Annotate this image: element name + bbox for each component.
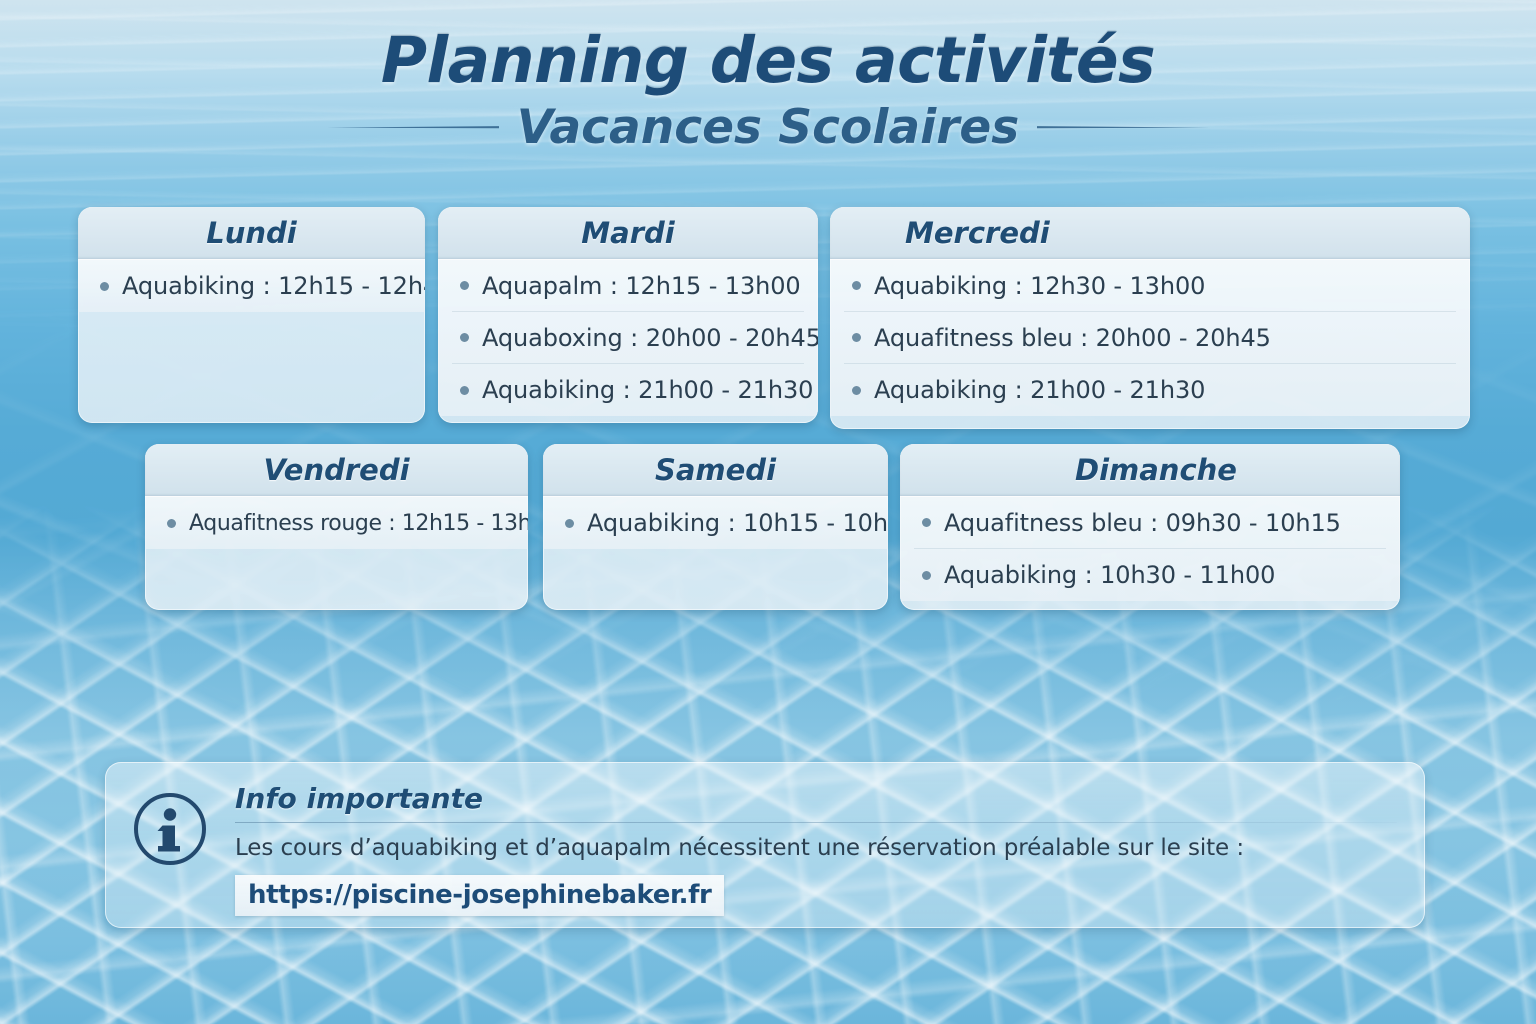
day-name-samedi: Samedi (655, 453, 776, 487)
activity-label: Aquabiking : 21h00 - 21h30 (874, 376, 1205, 404)
activity-label: Aquabiking : 10h15 - 10h45 (587, 509, 888, 537)
info-circle-icon (131, 790, 209, 873)
activity-label: Aquabiking : 12h15 - 12h45 (122, 272, 425, 300)
day-card-body: Aquabiking : 12h30 - 13h00 Aquafitness b… (830, 260, 1470, 416)
day-card-dimanche: Dimanche Aquafitness bleu : 09h30 - 10h1… (900, 444, 1400, 610)
activity-item: Aquafitness bleu : 09h30 - 10h15 (914, 497, 1386, 549)
day-card-header: Mercredi (830, 207, 1470, 260)
activity-item: Aquabiking : 12h15 - 12h45 (92, 260, 411, 312)
activity-label: Aquafitness bleu : 09h30 - 10h15 (944, 509, 1341, 537)
bullet-icon (922, 518, 931, 527)
bullet-icon (852, 333, 861, 342)
bullet-icon (922, 571, 931, 580)
activity-item: Aquabiking : 21h00 - 21h30 (452, 364, 804, 416)
bullet-icon (852, 386, 861, 395)
right-rule-decoration (1037, 125, 1209, 130)
activity-label: Aquaboxing : 20h00 - 20h45 (482, 324, 818, 352)
activity-item: Aquabiking : 10h15 - 10h45 (557, 497, 874, 549)
info-box: Info importante Les cours d’aquabiking e… (105, 762, 1425, 928)
activity-label: Aquabiking : 12h30 - 13h00 (874, 272, 1205, 300)
activity-label: Aquapalm : 12h15 - 13h00 (482, 272, 801, 300)
activity-item: Aquapalm : 12h15 - 13h00 (452, 260, 804, 312)
day-card-header: Mardi (438, 207, 818, 260)
bullet-icon (460, 386, 469, 395)
page-title: Planning des activités (0, 28, 1536, 94)
activity-item: Aquafitness bleu : 20h00 - 20h45 (844, 312, 1456, 364)
day-card-samedi: Samedi Aquabiking : 10h15 - 10h45 (543, 444, 888, 610)
poster-stage: Planning des activités Vacances Scolaire… (0, 0, 1536, 1024)
bullet-icon (460, 281, 469, 290)
day-name-vendredi: Vendredi (263, 453, 409, 487)
day-card-mardi: Mardi Aquapalm : 12h15 - 13h00 Aquaboxin… (438, 207, 818, 423)
activity-item: Aquaboxing : 20h00 - 20h45 (452, 312, 804, 364)
activity-label: Aquabiking : 10h30 - 11h00 (944, 561, 1275, 589)
info-title: Info importante (235, 784, 1397, 815)
activity-item: Aquafitness rouge : 12h15 - 13h00 (159, 497, 514, 549)
bullet-icon (100, 282, 109, 291)
info-content: Info importante Les cours d’aquabiking e… (235, 784, 1397, 916)
day-card-lundi: Lundi Aquabiking : 12h15 - 12h45 (78, 207, 425, 423)
bullet-icon (565, 519, 574, 528)
day-card-header: Samedi (543, 444, 888, 497)
activity-item: Aquabiking : 21h00 - 21h30 (844, 364, 1456, 416)
day-card-mercredi: Mercredi Aquabiking : 12h30 - 13h00 Aqua… (830, 207, 1470, 429)
page-subtitle: Vacances Scolaires (517, 100, 1020, 155)
day-card-body: Aquapalm : 12h15 - 13h00 Aquaboxing : 20… (438, 260, 818, 416)
day-name-lundi: Lundi (206, 216, 296, 250)
bullet-icon (852, 281, 861, 290)
activity-label: Aquabiking : 21h00 - 21h30 (482, 376, 813, 404)
day-card-body: Aquabiking : 12h15 - 12h45 (78, 260, 425, 312)
day-card-body: Aquafitness rouge : 12h15 - 13h00 (145, 497, 528, 549)
poster-header: Planning des activités Vacances Scolaire… (0, 28, 1536, 155)
bullet-icon (460, 333, 469, 342)
day-card-header: Vendredi (145, 444, 528, 497)
info-divider (235, 822, 1397, 823)
subtitle-row: Vacances Scolaires (0, 100, 1536, 155)
day-name-dimanche: Dimanche (1075, 453, 1237, 487)
day-card-header: Lundi (78, 207, 425, 260)
day-card-body: Aquafitness bleu : 09h30 - 10h15 Aquabik… (900, 497, 1400, 601)
day-name-mercredi: Mercredi (905, 216, 1050, 250)
reservation-website-link[interactable]: https://piscine-josephinebaker.fr (235, 875, 724, 916)
day-card-body: Aquabiking : 10h15 - 10h45 (543, 497, 888, 549)
activity-item: Aquabiking : 12h30 - 13h00 (844, 260, 1456, 312)
info-description: Les cours d’aquabiking et d’aquapalm néc… (235, 835, 1397, 861)
left-rule-decoration (327, 125, 499, 130)
day-card-header: Dimanche (900, 444, 1400, 497)
bullet-icon (167, 519, 176, 528)
activity-label: Aquafitness bleu : 20h00 - 20h45 (874, 324, 1271, 352)
day-name-mardi: Mardi (581, 216, 674, 250)
activity-label: Aquafitness rouge : 12h15 - 13h00 (189, 511, 528, 536)
day-card-vendredi: Vendredi Aquafitness rouge : 12h15 - 13h… (145, 444, 528, 610)
activity-item: Aquabiking : 10h30 - 11h00 (914, 549, 1386, 601)
